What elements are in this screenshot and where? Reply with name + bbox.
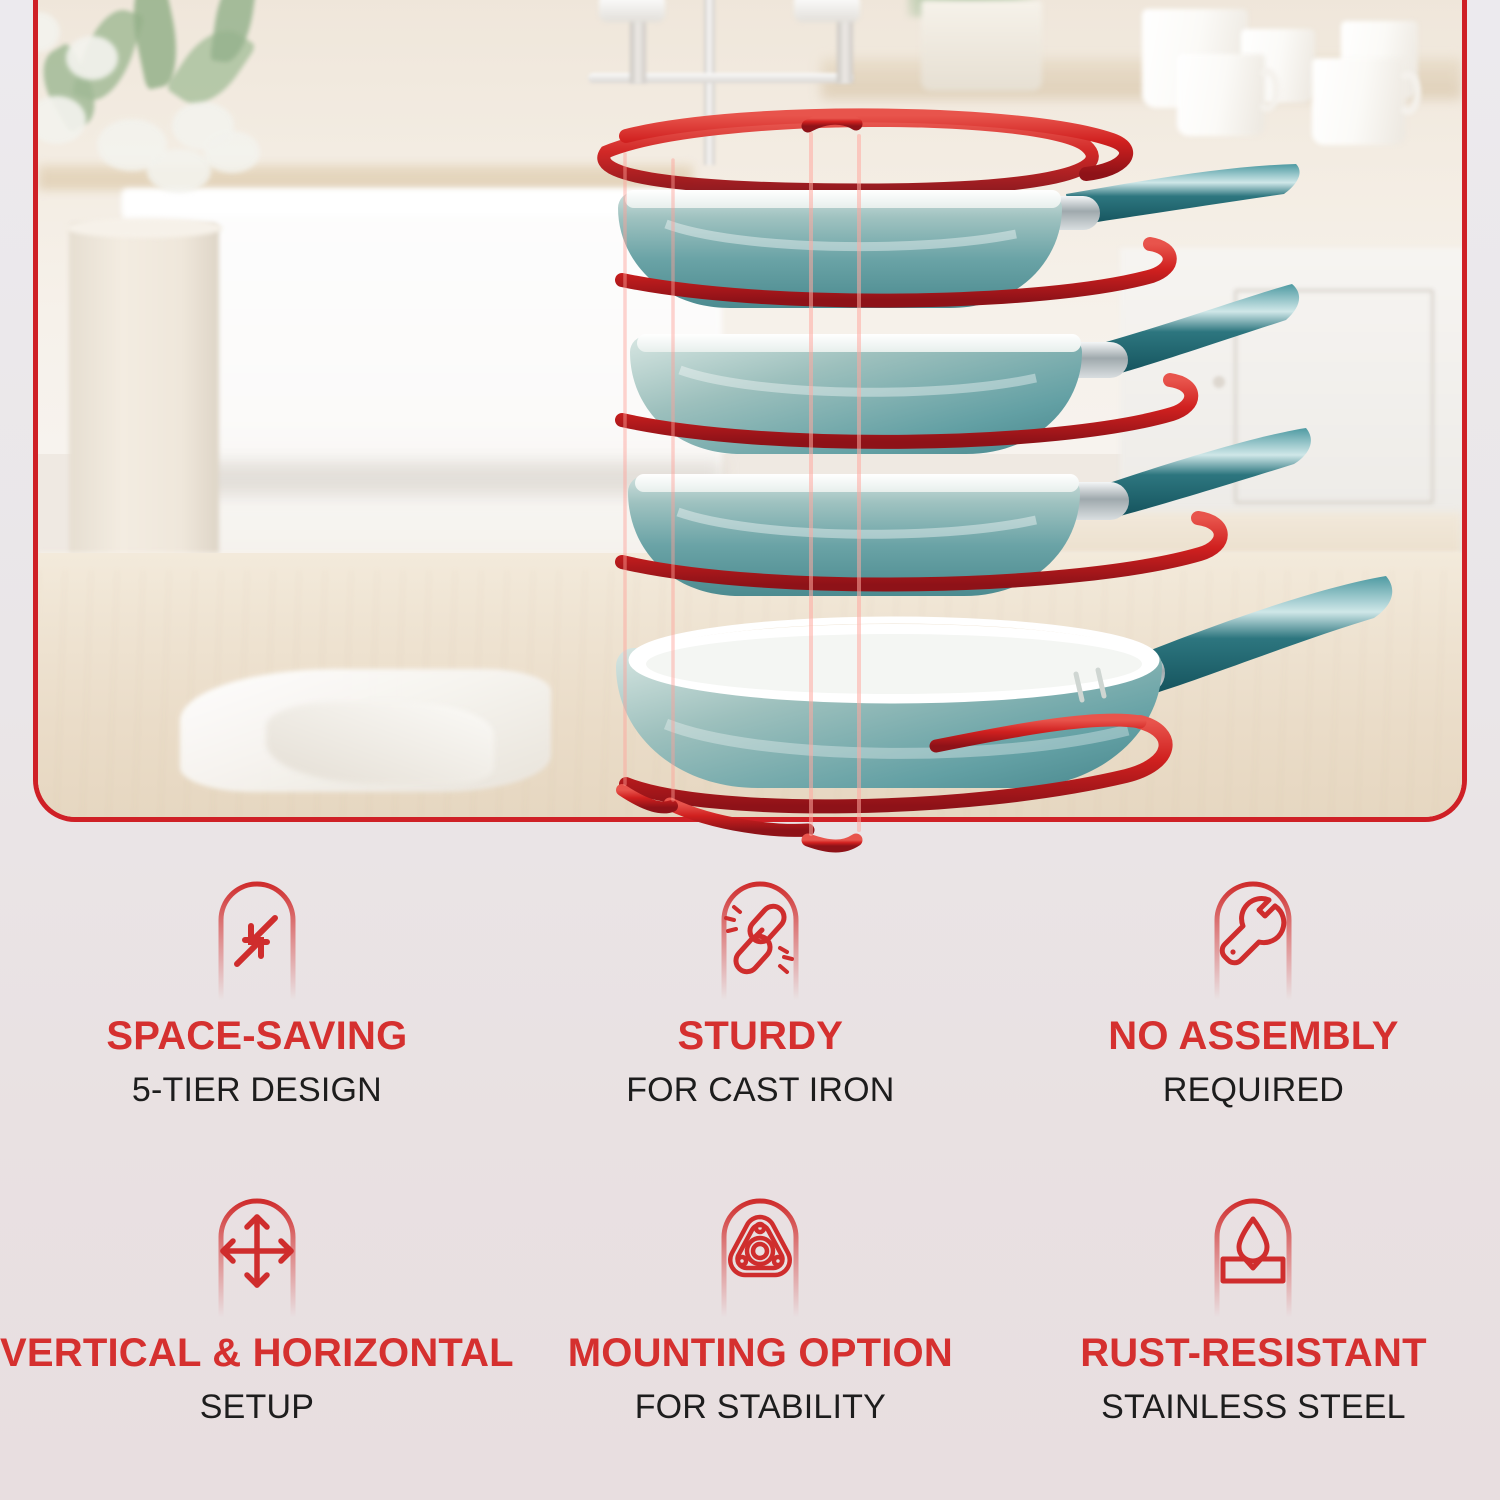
pan-handle-2 bbox=[1106, 284, 1299, 376]
feature-title: RUST-RESISTANT bbox=[1080, 1333, 1427, 1374]
feature-subtitle: STAINLESS STEEL bbox=[1101, 1388, 1406, 1427]
feature-title: NO ASSEMBLY bbox=[1108, 1016, 1398, 1057]
feature-subtitle: FOR CAST IRON bbox=[626, 1071, 894, 1110]
feature-subtitle: FOR STABILITY bbox=[635, 1388, 886, 1427]
pan-rim-1 bbox=[625, 190, 1061, 208]
feature-title: MOUNTING OPTION bbox=[568, 1333, 953, 1374]
pan-tier-2 bbox=[630, 284, 1299, 454]
feature-title: VERTICAL & HORIZONTAL bbox=[0, 1333, 514, 1374]
feature-subtitle: SETUP bbox=[200, 1388, 314, 1427]
feature-vertical-horizontal[interactable]: VERTICAL & HORIZONTAL SETUP bbox=[0, 1183, 514, 1500]
feature-space-saving[interactable]: SPACE-SAVING 5-TIER DESIGN bbox=[0, 866, 514, 1183]
feature-title: STURDY bbox=[678, 1016, 844, 1057]
water-droplet-repel-icon bbox=[1189, 1197, 1317, 1319]
compress-arrows-icon bbox=[193, 880, 321, 1002]
pan-handle-4 bbox=[1136, 576, 1392, 696]
pan-rack-illustration bbox=[66, 0, 1500, 884]
hero-photo-panel bbox=[33, 0, 1467, 822]
mounting-flange-icon bbox=[696, 1197, 824, 1319]
feature-sturdy[interactable]: STURDY FOR CAST IRON bbox=[514, 866, 1007, 1183]
feature-mounting-option[interactable]: MOUNTING OPTION FOR STABILITY bbox=[514, 1183, 1007, 1500]
feature-title: SPACE-SAVING bbox=[106, 1016, 407, 1057]
feature-subtitle: 5-TIER DESIGN bbox=[132, 1071, 382, 1110]
feature-subtitle: REQUIRED bbox=[1163, 1071, 1344, 1110]
four-way-arrows-icon bbox=[193, 1197, 321, 1319]
features-grid: SPACE-SAVING 5-TIER DESIGN bbox=[0, 866, 1500, 1500]
feature-rust-resistant[interactable]: RUST-RESISTANT STAINLESS STEEL bbox=[1007, 1183, 1500, 1500]
wrench-icon bbox=[1189, 880, 1317, 1002]
chain-link-icon bbox=[696, 880, 824, 1002]
pan-handle-3 bbox=[1106, 428, 1311, 518]
pan-tier-4 bbox=[616, 576, 1392, 788]
feature-no-assembly[interactable]: NO ASSEMBLY REQUIRED bbox=[1007, 866, 1500, 1183]
